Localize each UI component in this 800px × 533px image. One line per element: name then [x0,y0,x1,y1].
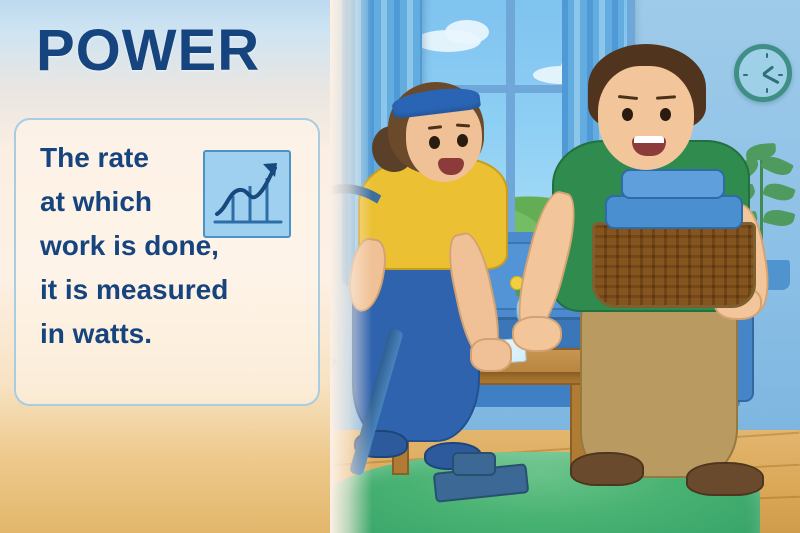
definition-line-5: in watts. [40,312,302,356]
vacuum-head-neck [452,452,496,476]
man-shoe-right [686,462,764,496]
definition-line-4: it is measured [40,268,302,312]
man-pants [580,288,738,478]
woman-hand [470,338,512,372]
scene-illustration [330,0,800,533]
man-face [598,66,694,170]
man-hand-left [512,316,562,352]
wall-clock [734,44,792,102]
man-shoe-left [570,452,644,486]
laundry-basket [592,222,756,308]
page-title: POWER [36,22,260,80]
growth-chart-icon [203,150,291,238]
clock-minute-hand [762,73,779,84]
poster-canvas: POWER The rate at which work is done, it… [0,0,800,533]
